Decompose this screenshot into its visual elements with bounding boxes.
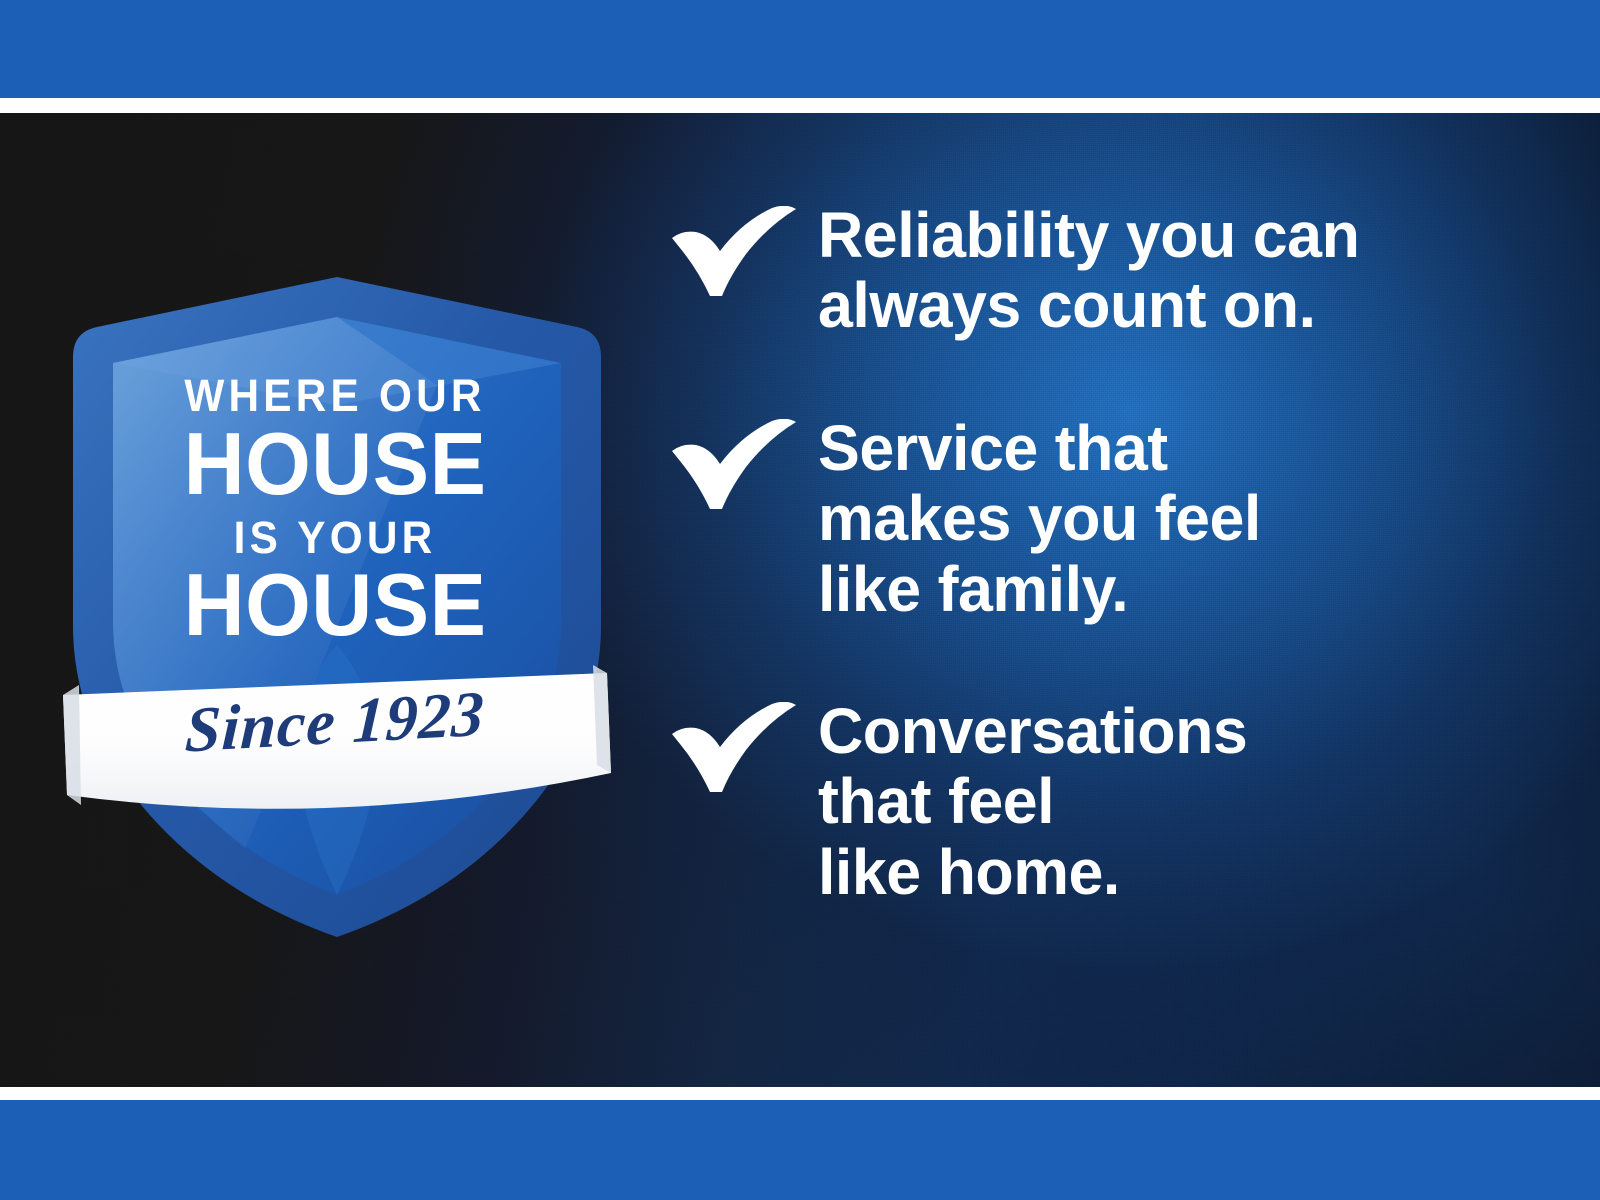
benefit-text: Service that makes you feel like family. [818, 413, 1533, 624]
bottom-brand-bar [0, 1100, 1600, 1200]
benefit-text: Reliability you can always count on. [818, 200, 1533, 341]
check-icon [668, 200, 818, 302]
shield-badge: WHERE OUR HOUSE IS YOUR HOUSE Since 1923 [45, 265, 625, 945]
benefit-item: Conversations that feel like home. [668, 696, 1548, 907]
shield-graphic [45, 265, 625, 945]
check-icon [668, 696, 818, 798]
benefit-item: Reliability you can always count on. [668, 200, 1548, 341]
benefit-item: Service that makes you feel like family. [668, 413, 1548, 624]
top-brand-bar [0, 0, 1600, 98]
promotional-poster: WHERE OUR HOUSE IS YOUR HOUSE Since 1923… [0, 0, 1600, 1200]
check-icon [668, 413, 818, 515]
ribbon-fold-left [63, 685, 81, 805]
benefits-list: Reliability you can always count on. Ser… [668, 200, 1548, 907]
benefit-text: Conversations that feel like home. [818, 696, 1533, 907]
